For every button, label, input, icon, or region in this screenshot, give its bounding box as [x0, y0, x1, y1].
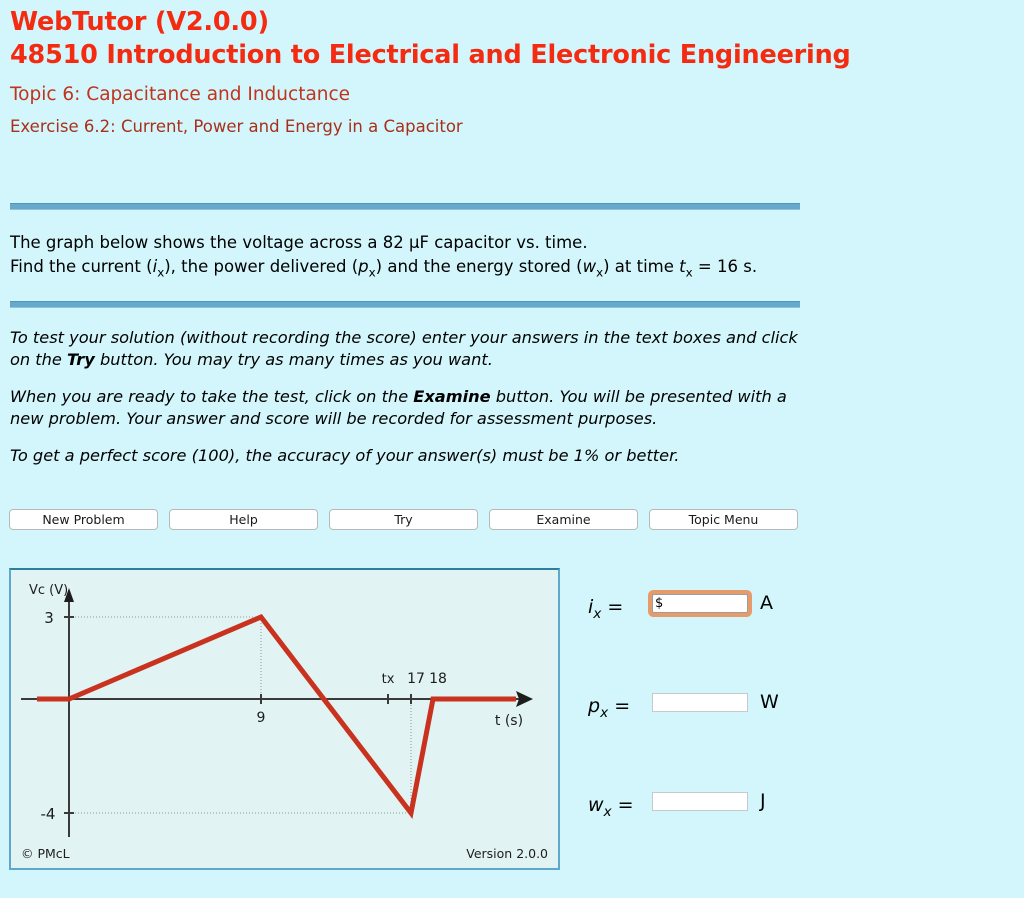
y-axis-label: Vc (V) — [29, 583, 68, 598]
symbol-p: p — [358, 257, 368, 276]
current-unit: A — [760, 592, 773, 614]
subscript-tx: x — [686, 265, 693, 279]
answer-area: ix = A px = W wx = J — [588, 588, 848, 885]
problem-line-1: The graph below shows the voltage across… — [10, 231, 810, 255]
course-title: 48510 Introduction to Electrical and Ele… — [10, 39, 1010, 72]
answer-row-current: ix = A — [588, 588, 848, 687]
x-tick-label-18: 18 — [429, 671, 447, 687]
current-equals: = — [601, 596, 623, 618]
voltage-time-chart: Vc (V) 3 -4 9 tx 17 18 t (s) © PMcL Vers… — [11, 570, 558, 868]
copyright-label: © PMcL — [21, 846, 70, 861]
energy-label: wx = — [588, 794, 634, 820]
energy-equals: = — [612, 794, 634, 816]
energy-unit: J — [760, 790, 766, 812]
help-button[interactable]: Help — [169, 509, 318, 530]
answer-row-energy: wx = J — [588, 786, 848, 885]
power-unit: W — [760, 691, 779, 713]
y-tick-label-3: 3 — [44, 609, 54, 627]
power-input[interactable] — [652, 693, 748, 712]
energy-symbol: w — [588, 794, 604, 816]
divider-top — [10, 203, 800, 210]
webtutor-page: WebTutor (V2.0.0) 48510 Introduction to … — [0, 0, 1024, 898]
current-label: ix = — [588, 596, 623, 622]
topic-subtitle: Topic 6: Capacitance and Inductance — [10, 82, 1010, 107]
answer-row-power: px = W — [588, 687, 848, 786]
try-button[interactable]: Try — [329, 509, 478, 530]
subscript-px: x — [369, 265, 376, 279]
problem-line-2: Find the current (ix), the power deliver… — [10, 255, 810, 284]
problem-text-e: = 16 s. — [693, 257, 757, 276]
examine-button[interactable]: Examine — [489, 509, 638, 530]
instruction-paragraph-examine: When you are ready to take the test, cli… — [10, 386, 810, 429]
topic-menu-button[interactable]: Topic Menu — [649, 509, 798, 530]
power-subscript: x — [600, 705, 608, 721]
power-symbol: p — [588, 695, 600, 717]
voltage-graph-panel: Vc (V) 3 -4 9 tx 17 18 t (s) © PMcL Vers… — [9, 568, 560, 870]
current-input[interactable] — [652, 594, 748, 613]
button-bar: New Problem Help Try Examine Topic Menu — [9, 509, 809, 530]
app-title: WebTutor (V2.0.0) — [10, 6, 1010, 39]
symbol-w: w — [583, 257, 597, 276]
problem-text-d: ) at time — [603, 257, 679, 276]
instruction-paragraph-score: To get a perfect score (100), the accura… — [10, 445, 810, 467]
try-keyword: Try — [67, 350, 95, 369]
problem-text-a: Find the current ( — [10, 257, 153, 276]
problem-text-b: ), the power delivered ( — [164, 257, 358, 276]
voltage-waveform — [37, 617, 516, 813]
y-tick-label-minus4: -4 — [41, 805, 56, 823]
energy-input[interactable] — [652, 792, 748, 811]
problem-statement: The graph below shows the voltage across… — [10, 231, 810, 284]
examine-keyword: Examine — [413, 387, 490, 406]
power-equals: = — [608, 695, 630, 717]
divider-middle — [10, 301, 800, 308]
exercise-subtitle: Exercise 6.2: Current, Power and Energy … — [10, 115, 1010, 138]
power-label: px = — [588, 695, 630, 721]
x-tick-label-tx: tx — [382, 672, 395, 687]
version-label: Version 2.0.0 — [466, 846, 548, 861]
x-axis-label: t (s) — [495, 713, 523, 729]
instructions-block: To test your solution (without recording… — [10, 327, 810, 483]
x-tick-label-9: 9 — [257, 710, 266, 726]
try-text-c: button. You may try as many times as you… — [95, 350, 493, 369]
energy-subscript: x — [604, 804, 612, 820]
examine-text-a: When you are ready to take the test, cli… — [10, 387, 413, 406]
new-problem-button[interactable]: New Problem — [9, 509, 158, 530]
problem-text-c: ) and the energy stored ( — [376, 257, 583, 276]
x-tick-label-17: 17 — [407, 671, 425, 687]
instruction-paragraph-try: To test your solution (without recording… — [10, 327, 810, 370]
page-title: WebTutor (V2.0.0) 48510 Introduction to … — [10, 6, 1010, 138]
